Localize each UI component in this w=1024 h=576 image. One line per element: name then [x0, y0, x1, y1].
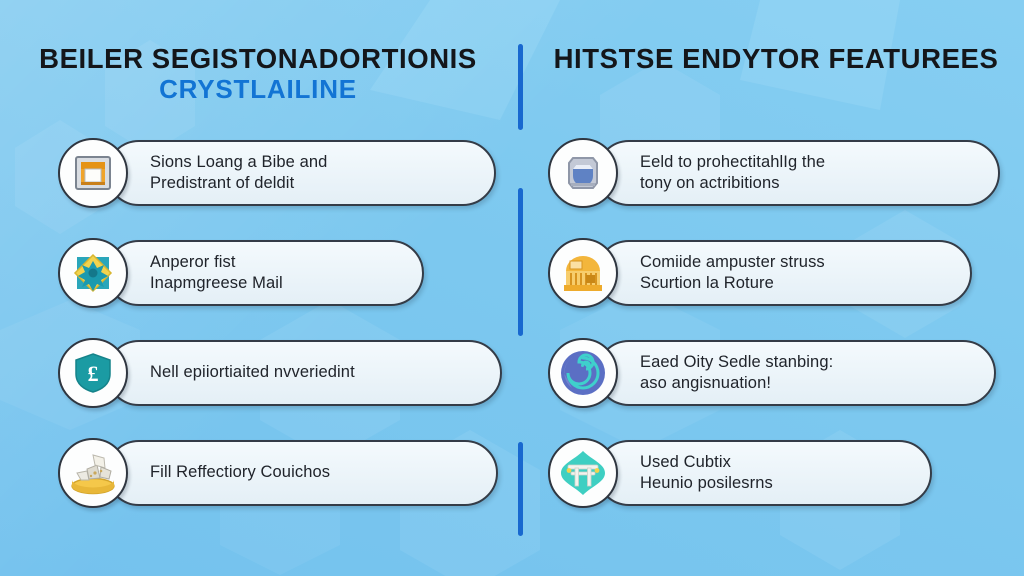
left-column-list: Sions Loang a Bibe and Predistrant of de…: [58, 134, 502, 534]
divider-segment-2: [518, 188, 523, 336]
list-item-pill[interactable]: Used Cubtix Heunio posilesrns: [596, 440, 932, 506]
list-item-pill[interactable]: Nell epiiortiaited nvveriedint: [106, 340, 502, 406]
list-item-label: Comiide ampuster struss Scurtion la Rotu…: [640, 252, 825, 294]
right-header-line1: HITSTSE ENDYTOR FEATUREES: [546, 44, 1006, 74]
right-column-header: HITSTSE ENDYTOR FEATUREES: [546, 44, 1006, 74]
list-item[interactable]: Sions Loang a Bibe and Predistrant of de…: [58, 134, 502, 212]
vertical-divider: [518, 0, 524, 576]
torii-gate-icon: [548, 438, 618, 508]
list-item[interactable]: Anperor fist Inapmgreese Mail: [58, 234, 502, 312]
list-item-pill[interactable]: Anperor fist Inapmgreese Mail: [106, 240, 424, 306]
list-item-label: Eaed Oity Sedle stanbing: aso angisnuati…: [640, 352, 833, 394]
list-item[interactable]: Used Cubtix Heunio posilesrns: [548, 434, 1000, 512]
list-item[interactable]: Eeld to prohectitahlIg the tony on actri…: [548, 134, 1000, 212]
temple-building-icon: [548, 238, 618, 308]
diamond-burst-icon: [58, 238, 128, 308]
list-item[interactable]: Fill Reffectiory Couichos: [58, 434, 502, 512]
list-item-pill[interactable]: Eaed Oity Sedle stanbing: aso angisnuati…: [596, 340, 996, 406]
shield-pound-icon: £: [58, 338, 128, 408]
headers: BEILER SEGISTONADORTIONIS CRYSTLAILINE H…: [0, 44, 1024, 124]
water-jar-icon: [548, 138, 618, 208]
svg-text:£: £: [88, 361, 99, 386]
list-item-label: Eeld to prohectitahlIg the tony on actri…: [640, 152, 825, 194]
framed-document-icon: [58, 138, 128, 208]
divider-segment-3: [518, 442, 523, 536]
list-item-pill[interactable]: Sions Loang a Bibe and Predistrant of de…: [106, 140, 496, 206]
left-header-line2: CRYSTLAILINE: [28, 74, 488, 105]
list-item-label: Nell epiiortiaited nvveriedint: [150, 362, 355, 383]
list-item-pill[interactable]: Comiide ampuster struss Scurtion la Rotu…: [596, 240, 972, 306]
list-item-pill[interactable]: Fill Reffectiory Couichos: [106, 440, 498, 506]
list-item-label: Anperor fist Inapmgreese Mail: [150, 252, 283, 294]
list-item-label: Fill Reffectiory Couichos: [150, 462, 330, 483]
left-column-header: BEILER SEGISTONADORTIONIS CRYSTLAILINE: [28, 44, 488, 104]
divider-segment-1: [518, 44, 523, 130]
list-item[interactable]: £ Nell epiiortiaited nvveriedint: [58, 334, 502, 412]
cheese-platter-icon: [58, 438, 128, 508]
list-item-label: Used Cubtix Heunio posilesrns: [640, 452, 773, 494]
left-header-line1: BEILER SEGISTONADORTIONIS: [28, 44, 488, 74]
right-column-list: Eeld to prohectitahlIg the tony on actri…: [548, 134, 1000, 534]
spiral-swirl-icon: [548, 338, 618, 408]
list-item[interactable]: Eaed Oity Sedle stanbing: aso angisnuati…: [548, 334, 1000, 412]
list-item-pill[interactable]: Eeld to prohectitahlIg the tony on actri…: [596, 140, 1000, 206]
list-item[interactable]: Comiide ampuster struss Scurtion la Rotu…: [548, 234, 1000, 312]
list-item-label: Sions Loang a Bibe and Predistrant of de…: [150, 152, 327, 194]
